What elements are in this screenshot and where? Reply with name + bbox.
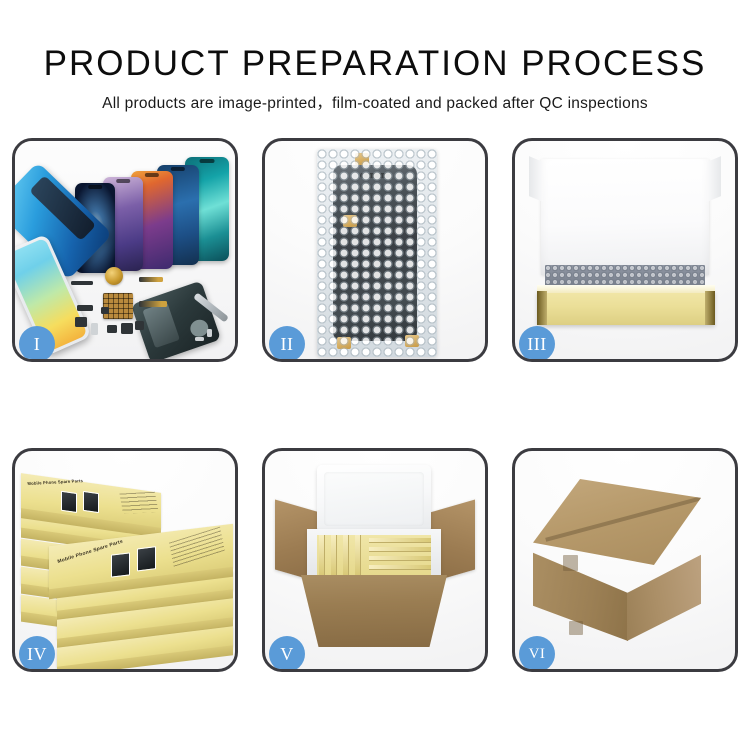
tray-right-edge (705, 291, 715, 325)
spare-part (121, 323, 133, 334)
tray-left-edge (537, 291, 547, 325)
tape-piece (343, 215, 357, 227)
step-frame: VI (512, 448, 738, 672)
spare-part (107, 325, 117, 333)
step-6-illustration: VI (515, 451, 735, 669)
spare-part (139, 301, 167, 307)
white-box-lid (541, 159, 709, 275)
page-subtitle: All products are image-printed，film-coat… (0, 91, 750, 113)
process-step-grid: I II (12, 138, 738, 672)
process-step-1: I (12, 138, 238, 362)
step-3-illustration: III (515, 141, 735, 359)
step-badge: VI (519, 636, 555, 669)
spare-part (135, 321, 144, 330)
step-frame: V (262, 448, 488, 672)
step-1-illustration: I (15, 141, 235, 359)
spare-part (91, 323, 98, 335)
wrapped-screen (333, 165, 417, 341)
step-frame: Mobile Phone Spare Parts Mobile Phone Sp… (12, 448, 238, 672)
spare-part (71, 281, 93, 285)
spare-part (207, 329, 212, 337)
spare-part (75, 317, 87, 327)
tape-piece (337, 337, 351, 349)
spare-part (139, 277, 163, 282)
step-badge: IV (19, 636, 55, 669)
printed-box-rear: Mobile Phone Spare Parts (21, 473, 161, 529)
step-frame: II (262, 138, 488, 362)
spare-part (195, 337, 204, 341)
header: PRODUCT PREPARATION PROCESS All products… (0, 0, 750, 113)
process-step-6: VI (512, 448, 738, 672)
speaker-coil-part (105, 267, 123, 285)
process-step-4: Mobile Phone Spare Parts Mobile Phone Sp… (12, 448, 238, 672)
yellow-box-stack: Mobile Phone Spare Parts Mobile Phone Sp… (21, 473, 235, 659)
step-badge: III (519, 326, 555, 359)
process-step-2: II (262, 138, 488, 362)
spare-part (77, 305, 93, 311)
kraft-carton-body (301, 575, 447, 647)
step-4-illustration: Mobile Phone Spare Parts Mobile Phone Sp… (15, 451, 235, 669)
box-label: Mobile Phone Spare Parts (27, 478, 83, 486)
foam-lid (317, 465, 431, 533)
step-badge: II (269, 326, 305, 359)
packed-yellow-boxes (317, 535, 431, 575)
carton-tab (563, 555, 578, 571)
step-5-illustration: V (265, 451, 485, 669)
step-badge: V (269, 636, 305, 669)
carton-tape-seam (533, 479, 701, 565)
spare-part (101, 307, 109, 314)
process-step-5: V (262, 448, 488, 672)
carton-tab (569, 621, 583, 635)
process-step-3: III (512, 138, 738, 362)
ic-chip-part (103, 293, 133, 319)
tape-piece (355, 153, 369, 165)
bubble-wrap-bag (317, 149, 437, 357)
step-frame: III (512, 138, 738, 362)
step-2-illustration: II (265, 141, 485, 359)
yellow-box-tray (537, 291, 715, 325)
step-badge: I (19, 326, 55, 359)
tape-piece (405, 335, 419, 347)
page-title: PRODUCT PREPARATION PROCESS (0, 44, 750, 84)
product-preparation-infographic: PRODUCT PREPARATION PROCESS All products… (0, 0, 750, 750)
step-frame: I (12, 138, 238, 362)
